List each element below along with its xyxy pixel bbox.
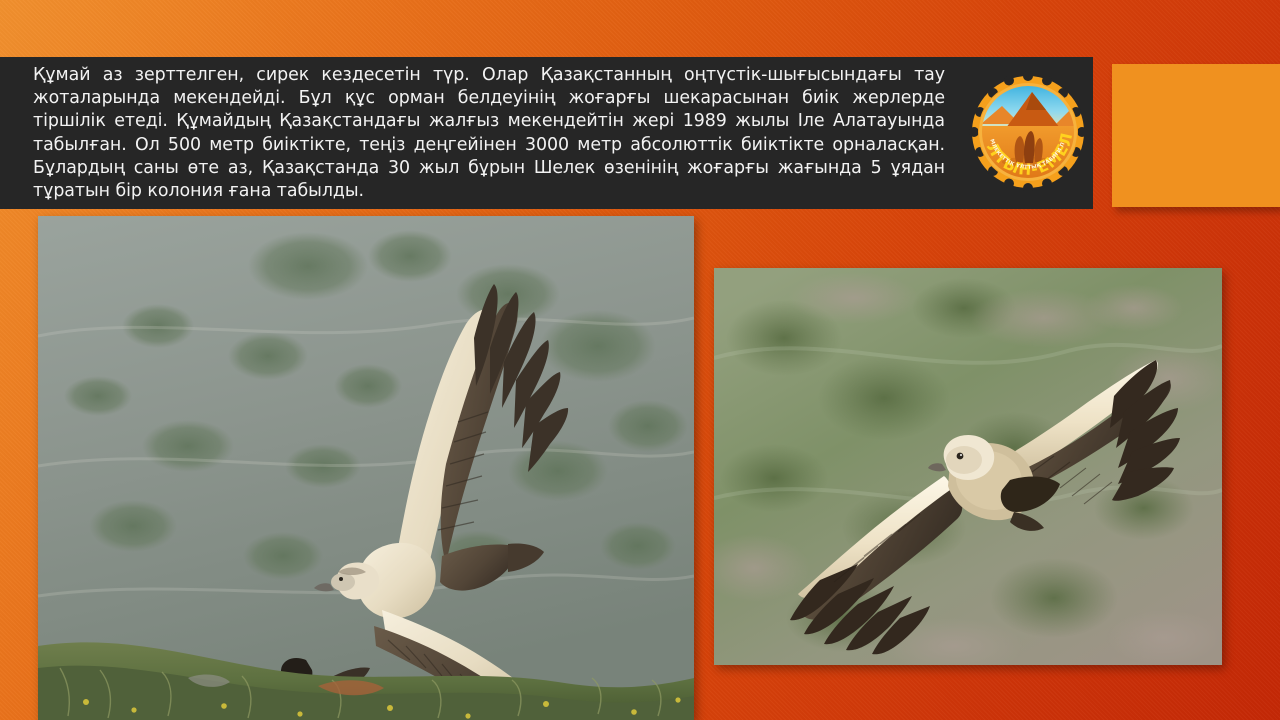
- photo-griffon-vulture-right: [714, 268, 1222, 665]
- body-text: Құмай аз зерттелген, сирек кездесетін тү…: [33, 64, 945, 203]
- accent-block: [1112, 64, 1280, 207]
- text-panel: Құмай аз зерттелген, сирек кездесетін тү…: [0, 57, 1093, 209]
- altyn-emel-emblem: АЛТЫН-ЕМЕЛ МЕМЛЕКЕТТІК ҰЛТТЫҚ ТАБИҒИ ПАР…: [968, 62, 1088, 205]
- presentation-slide: Құмай аз зерттелген, сирек кездесетін тү…: [0, 0, 1280, 720]
- photo-griffon-vulture-left: [38, 216, 694, 720]
